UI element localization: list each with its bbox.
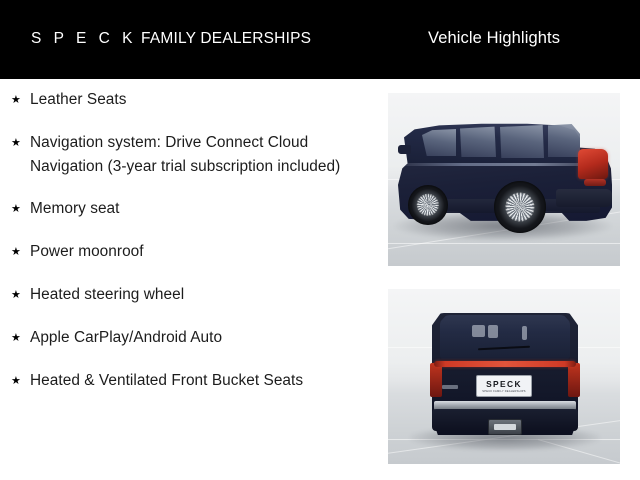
star-icon: ★ [8,131,30,155]
list-item: ★ Leather Seats [8,88,372,112]
brand-wordmark: S P E C K FAMILY DEALERSHIPS [31,29,311,49]
brand-name-suffix: FAMILY DEALERSHIPS [137,30,312,47]
list-item: ★ Heated & Ventilated Front Bucket Seats [8,369,372,393]
feature-label: Leather Seats [30,88,372,112]
vehicle-rear-quarter-photo[interactable] [388,93,620,266]
list-item: ★ Navigation system: Drive Connect Cloud… [8,131,372,178]
rear-light-bar [434,361,576,367]
glass-reflection [472,325,485,337]
taillight-left [430,363,442,397]
rear-windshield [440,315,570,359]
license-plate-subtext: SPECK FAMILY DEALERSHIPS [482,390,525,393]
body-highlight-line [400,163,608,166]
side-window [422,129,456,156]
taillight-right [568,363,580,397]
license-plate-text: SPECK [486,380,522,389]
feature-label: Heated & Ventilated Front Bucket Seats [30,369,372,393]
page-title: Vehicle Highlights [428,28,560,49]
taillight [578,149,608,179]
rear-wheel [494,181,546,233]
list-item: ★ Heated steering wheel [8,283,372,307]
license-plate: SPECK SPECK FAMILY DEALERSHIPS [476,375,532,397]
header-bar: S P E C K FAMILY DEALERSHIPS Vehicle Hig… [0,0,640,79]
vehicle-rear-straight-photo[interactable]: SPECK SPECK FAMILY DEALERSHIPS [388,289,620,464]
list-item: ★ Memory seat [8,197,372,221]
side-mirror [398,145,411,154]
brand-name-speck: S P E C K [31,30,137,47]
rear-quarter-window [548,124,580,157]
front-wheel [408,185,448,225]
tow-hitch-opening [494,424,516,430]
glass-reflection [522,326,527,340]
list-item: ★ Power moonroof [8,240,372,264]
feature-label: Power moonroof [30,240,372,264]
glass-reflection [488,325,498,338]
star-icon: ★ [8,326,30,350]
vehicle-highlights-slide: S P E C K FAMILY DEALERSHIPS Vehicle Hig… [0,0,640,480]
star-icon: ★ [8,240,30,264]
rear-bumper [556,189,612,207]
vehicle-features-list: ★ Leather Seats ★ Navigation system: Dri… [0,88,372,412]
model-badge [442,385,458,389]
list-item: ★ Apple CarPlay/Android Auto [8,326,372,350]
feature-label: Memory seat [30,197,372,221]
side-window [500,125,544,158]
star-icon: ★ [8,197,30,221]
feature-label: Heated steering wheel [30,283,372,307]
star-icon: ★ [8,369,30,393]
feature-label: Navigation system: Drive Connect Cloud N… [30,131,372,178]
star-icon: ★ [8,283,30,307]
star-icon: ★ [8,88,30,112]
taillight-lower [584,179,606,186]
side-window [460,126,496,157]
feature-label: Apple CarPlay/Android Auto [30,326,372,350]
